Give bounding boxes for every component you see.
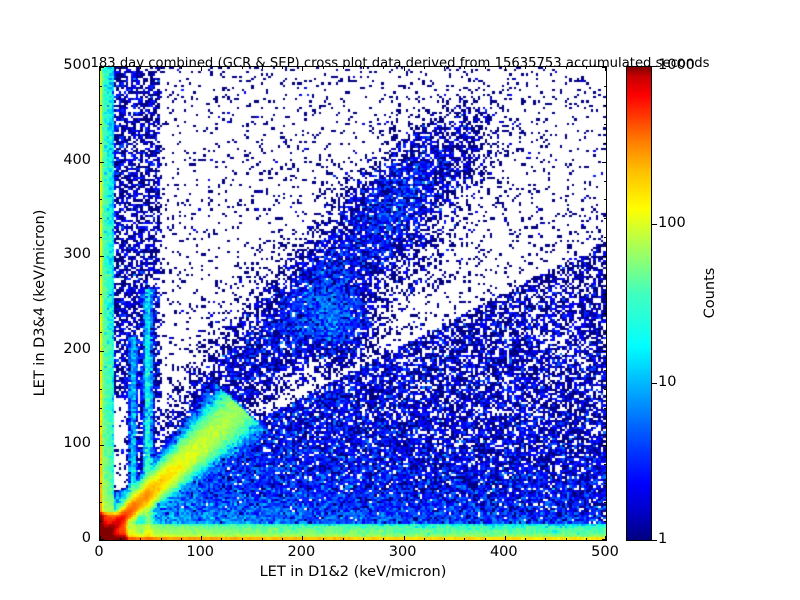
x-minor-tick-top xyxy=(525,67,526,69)
y-tick-label: 500 xyxy=(39,57,91,73)
y-major-tick xyxy=(100,445,104,446)
x-minor-tick xyxy=(525,538,526,540)
x-major-tick-top xyxy=(505,67,506,71)
colorbar-tick-label: 10 xyxy=(658,374,676,390)
x-major-tick xyxy=(302,536,303,540)
y-minor-tick-right xyxy=(604,86,606,87)
x-minor-tick xyxy=(566,538,567,540)
x-minor-tick-top xyxy=(363,67,364,69)
y-minor-tick-right xyxy=(604,426,606,427)
y-major-tick xyxy=(100,256,104,257)
x-minor-tick xyxy=(323,538,324,540)
x-minor-tick-top xyxy=(221,67,222,69)
y-minor-tick xyxy=(100,370,102,371)
y-minor-tick-right xyxy=(604,218,606,219)
y-minor-tick-right xyxy=(604,502,606,503)
x-axis-label: LET in D1&2 (keV/micron) xyxy=(99,564,607,580)
y-minor-tick xyxy=(100,389,102,390)
colorbar-tick xyxy=(652,540,657,541)
y-minor-tick xyxy=(100,275,102,276)
x-minor-tick-top xyxy=(485,67,486,69)
y-major-tick-right xyxy=(602,162,606,163)
x-tick-label: 300 xyxy=(373,544,433,560)
y-minor-tick xyxy=(100,86,102,87)
y-minor-tick xyxy=(100,426,102,427)
x-minor-tick xyxy=(383,538,384,540)
x-minor-tick-top xyxy=(424,67,425,69)
x-minor-tick xyxy=(262,538,263,540)
x-minor-tick-top xyxy=(545,67,546,69)
x-minor-tick-top xyxy=(282,67,283,69)
y-minor-tick-right xyxy=(604,370,606,371)
x-minor-tick xyxy=(120,538,121,540)
y-minor-tick-right xyxy=(604,181,606,182)
y-minor-tick xyxy=(100,502,102,503)
y-major-tick-right xyxy=(602,445,606,446)
y-minor-tick-right xyxy=(604,521,606,522)
x-minor-tick-top xyxy=(120,67,121,69)
colorbar-tick-label: 100 xyxy=(658,215,686,231)
x-major-tick xyxy=(404,536,405,540)
x-minor-tick xyxy=(161,538,162,540)
y-minor-tick xyxy=(100,237,102,238)
x-tick-label: 0 xyxy=(69,544,129,560)
x-minor-tick-top xyxy=(343,67,344,69)
x-minor-tick xyxy=(586,538,587,540)
x-minor-tick xyxy=(343,538,344,540)
x-minor-tick-top xyxy=(262,67,263,69)
x-minor-tick xyxy=(282,538,283,540)
y-minor-tick-right xyxy=(604,389,606,390)
y-major-tick xyxy=(100,162,104,163)
colorbar xyxy=(626,66,652,541)
x-minor-tick-top xyxy=(444,67,445,69)
colorbar-label: Counts xyxy=(702,193,718,393)
x-major-tick-top xyxy=(302,67,303,71)
y-major-tick-right xyxy=(602,256,606,257)
colorbar-tick-label: 1 xyxy=(658,531,667,547)
y-minor-tick xyxy=(100,313,102,314)
y-major-tick xyxy=(100,67,104,68)
x-minor-tick-top xyxy=(383,67,384,69)
x-minor-tick xyxy=(242,538,243,540)
x-major-tick-top xyxy=(201,67,202,71)
x-minor-tick xyxy=(545,538,546,540)
x-major-tick xyxy=(201,536,202,540)
y-tick-label: 0 xyxy=(39,530,91,546)
x-minor-tick xyxy=(221,538,222,540)
y-minor-tick xyxy=(100,332,102,333)
y-minor-tick-right xyxy=(604,483,606,484)
x-tick-label: 500 xyxy=(575,544,635,560)
y-minor-tick xyxy=(100,143,102,144)
y-minor-tick xyxy=(100,105,102,106)
y-minor-tick xyxy=(100,294,102,295)
y-major-tick-right xyxy=(602,539,606,540)
x-minor-tick-top xyxy=(323,67,324,69)
y-minor-tick xyxy=(100,483,102,484)
y-minor-tick xyxy=(100,199,102,200)
x-minor-tick xyxy=(424,538,425,540)
x-minor-tick-top xyxy=(242,67,243,69)
x-minor-tick xyxy=(464,538,465,540)
y-major-tick xyxy=(100,351,104,352)
y-major-tick-right xyxy=(602,67,606,68)
y-minor-tick xyxy=(100,521,102,522)
y-minor-tick-right xyxy=(604,464,606,465)
x-tick-label: 200 xyxy=(271,544,331,560)
y-minor-tick-right xyxy=(604,294,606,295)
colorbar-tick xyxy=(652,66,657,67)
x-major-tick xyxy=(505,536,506,540)
y-major-tick-right xyxy=(602,351,606,352)
y-minor-tick-right xyxy=(604,199,606,200)
y-minor-tick-right xyxy=(604,313,606,314)
x-minor-tick xyxy=(140,538,141,540)
x-minor-tick-top xyxy=(566,67,567,69)
colorbar-tick-label: 1000 xyxy=(658,57,695,73)
y-minor-tick-right xyxy=(604,124,606,125)
x-tick-label: 400 xyxy=(474,544,534,560)
x-minor-tick xyxy=(485,538,486,540)
y-minor-tick xyxy=(100,124,102,125)
scatter-density-plot xyxy=(100,67,606,540)
colorbar-tick xyxy=(652,224,657,225)
x-minor-tick xyxy=(444,538,445,540)
y-minor-tick xyxy=(100,464,102,465)
y-minor-tick-right xyxy=(604,408,606,409)
y-minor-tick xyxy=(100,181,102,182)
x-minor-tick xyxy=(363,538,364,540)
x-tick-label: 100 xyxy=(170,544,230,560)
x-minor-tick-top xyxy=(181,67,182,69)
x-minor-tick-top xyxy=(464,67,465,69)
plot-axes xyxy=(99,66,607,541)
y-minor-tick-right xyxy=(604,275,606,276)
y-minor-tick-right xyxy=(604,237,606,238)
colorbar-tick xyxy=(652,383,657,384)
x-major-tick-top xyxy=(404,67,405,71)
y-minor-tick xyxy=(100,218,102,219)
x-minor-tick xyxy=(181,538,182,540)
y-axis-label: LET in D3&4 (keV/micron) xyxy=(32,103,48,503)
x-minor-tick-top xyxy=(586,67,587,69)
y-minor-tick-right xyxy=(604,143,606,144)
y-minor-tick-right xyxy=(604,332,606,333)
y-minor-tick xyxy=(100,408,102,409)
y-minor-tick-right xyxy=(604,105,606,106)
y-major-tick xyxy=(100,539,104,540)
x-minor-tick-top xyxy=(140,67,141,69)
x-minor-tick-top xyxy=(161,67,162,69)
